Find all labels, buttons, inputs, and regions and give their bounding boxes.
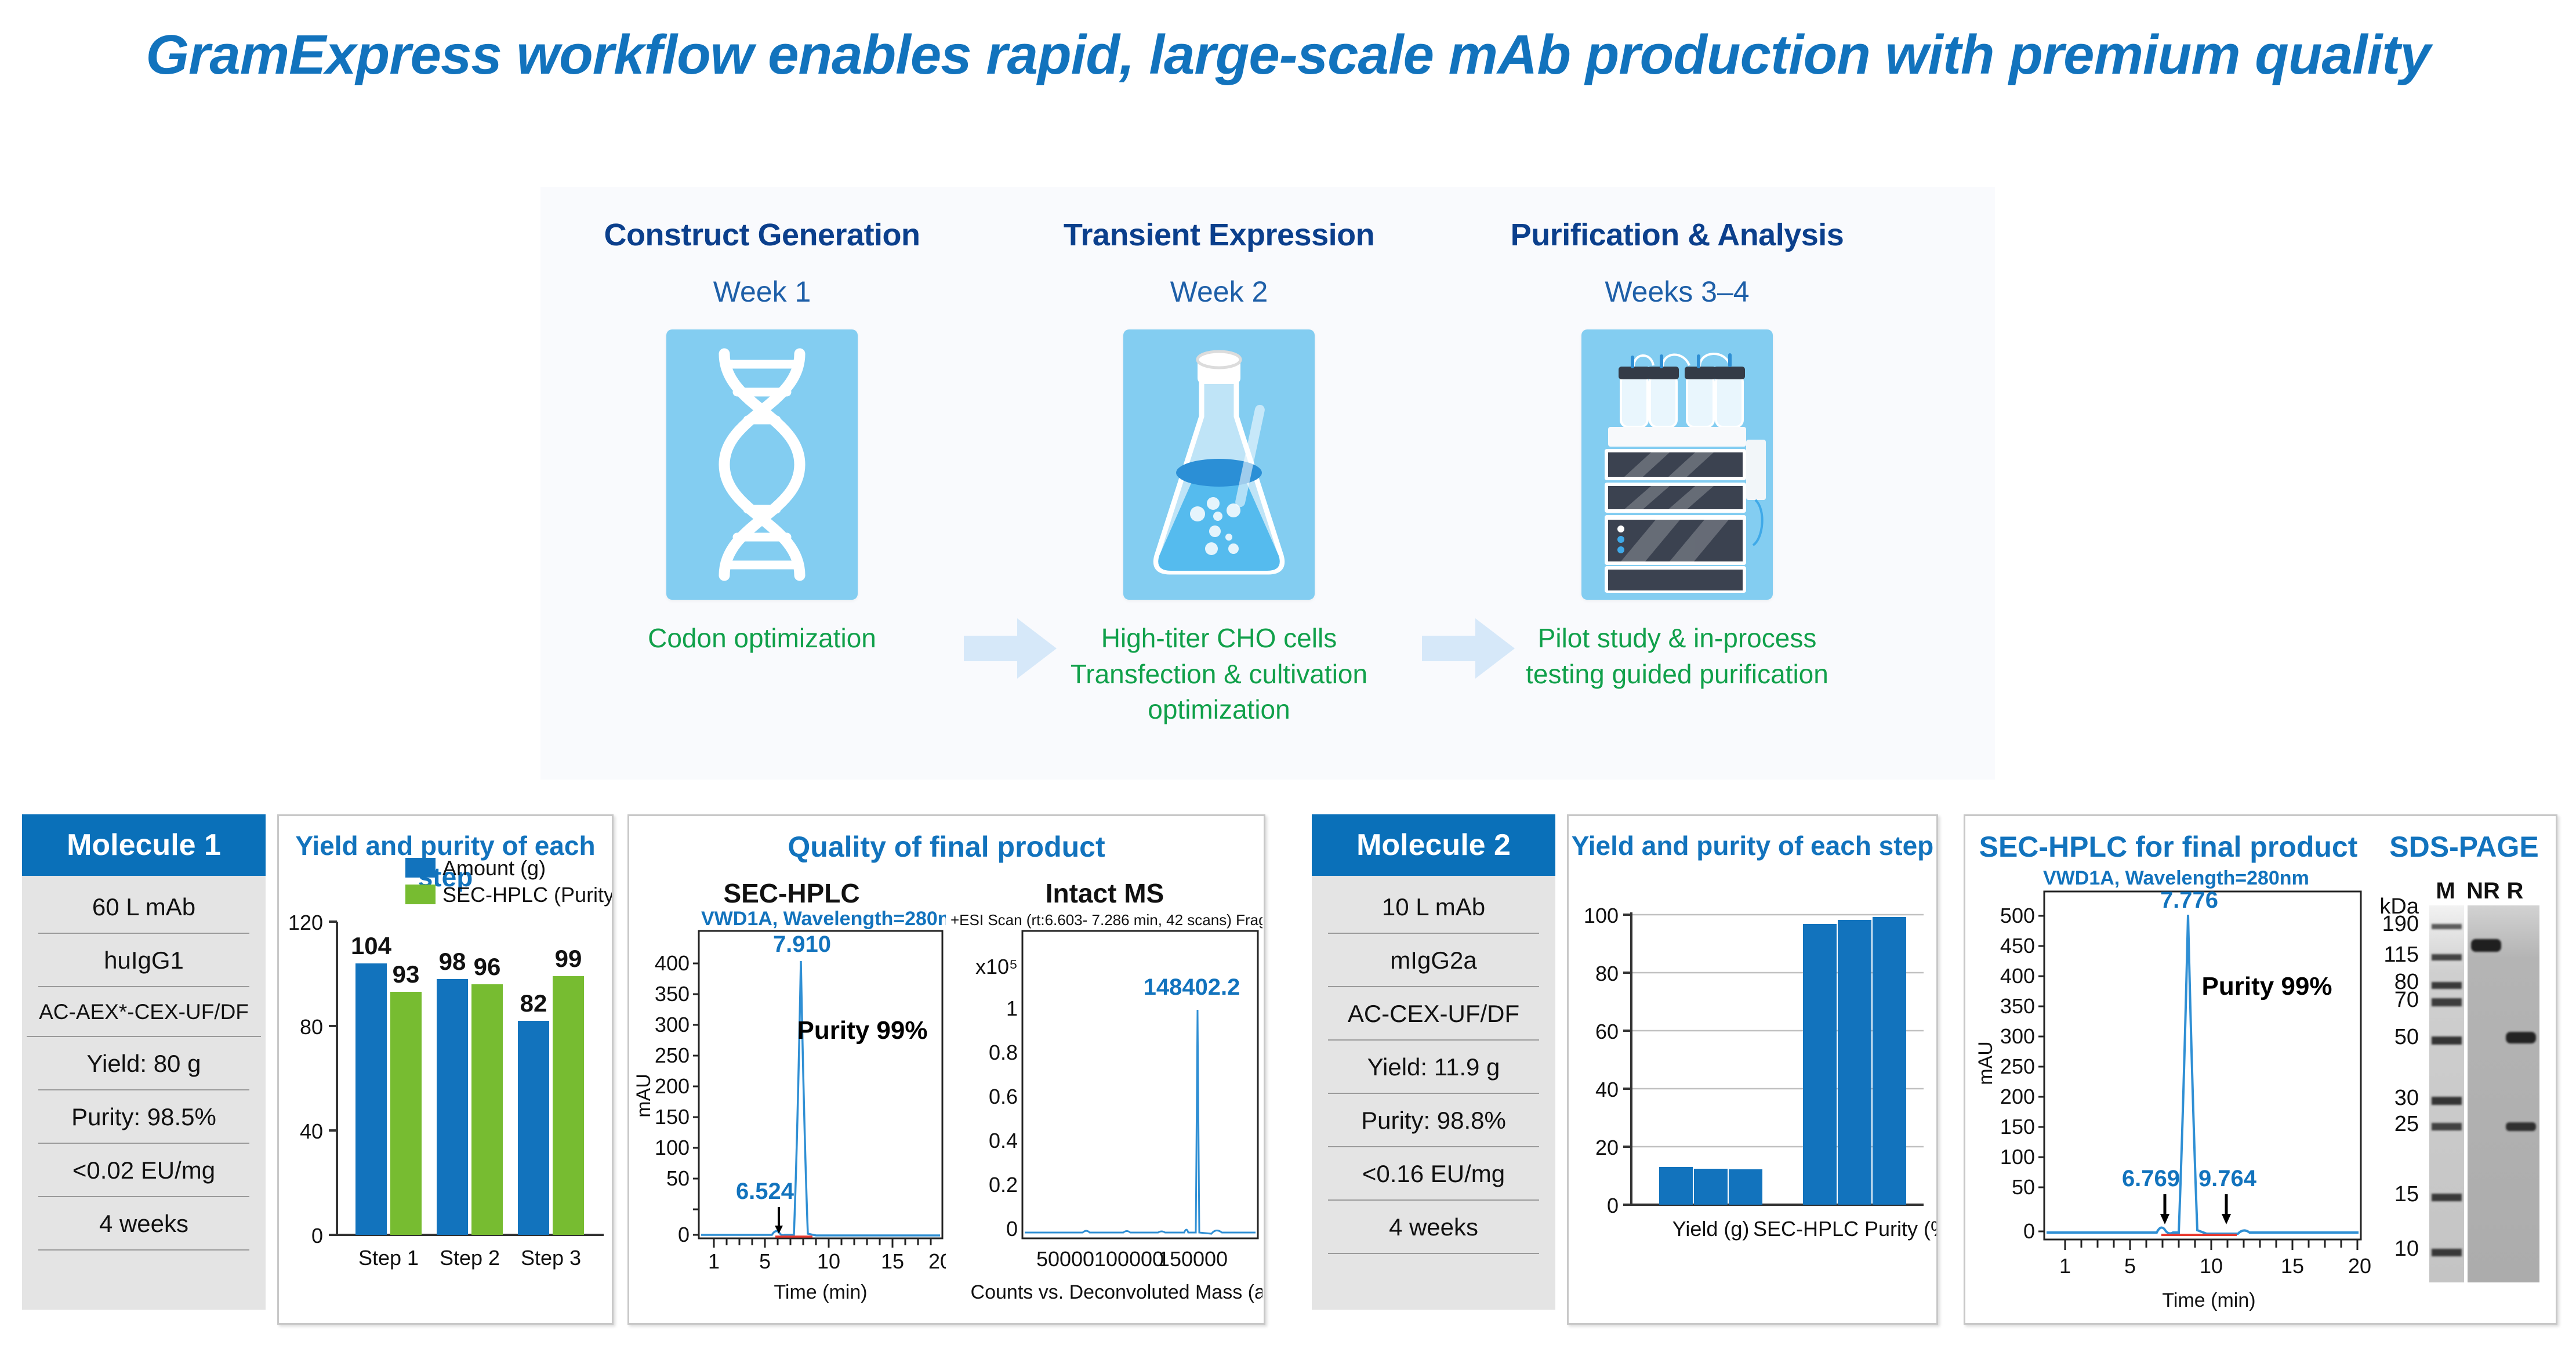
x-tick: 5 <box>2124 1254 2136 1278</box>
y-tick: 350 <box>655 982 690 1006</box>
gel-ladder-mark: 25 <box>2394 1112 2419 1136</box>
purity-annotation: Purity 99% <box>797 1016 928 1045</box>
bar-step3-amount <box>518 1021 549 1235</box>
gel-lane-label-NR: NR <box>2466 878 2500 904</box>
list-item: AC-AEX*-CEX-UF/DF <box>27 987 261 1037</box>
sdspage-title: SDS-PAGE <box>2371 830 2557 864</box>
x-tick: 1 <box>708 1249 720 1273</box>
gel-lane-label-M: M <box>2436 878 2455 904</box>
workflow-step-purification-analysis: Purification & Analysis Weeks 3–4 <box>1486 187 1868 692</box>
x-tick: 100000 <box>1094 1247 1164 1271</box>
bar-step1-amount <box>355 963 387 1235</box>
x-tick: 50000 <box>1036 1247 1094 1271</box>
gel-ladder-mark: 50 <box>2394 1025 2419 1049</box>
y-tick-120: 120 <box>288 911 323 934</box>
bar-label: 96 <box>474 953 501 980</box>
x-tick-step3: Step 3 <box>521 1246 581 1270</box>
y-tick: 20 <box>1595 1136 1619 1159</box>
molecule1-quality-panel: Quality of final product SEC-HPLC VWD1A,… <box>627 814 1265 1325</box>
y-tick: 0 <box>678 1223 690 1246</box>
purity-annotation: Purity 99% <box>2202 972 2332 1001</box>
y-tick: 500 <box>2000 904 2035 927</box>
list-item: Yield: 11.9 g <box>1328 1041 1539 1094</box>
detector-header: VWD1A, Wavelength=280nm <box>2043 867 2309 889</box>
bar-step3-purity <box>553 976 584 1235</box>
workflow-step-construct-generation: Construct Generation Week 1 Codon optimi… <box>571 187 953 657</box>
x-tick: 15 <box>2281 1254 2304 1278</box>
y-tick: 150 <box>2000 1115 2035 1139</box>
detector-header: VWD1A, Wavelength=280nm <box>701 910 946 930</box>
y-tick: 50 <box>2012 1175 2035 1199</box>
gel-ladder-mark: 15 <box>2394 1182 2419 1206</box>
page-title: GramExpress workflow enables rapid, larg… <box>0 23 2576 87</box>
y-tick: 100 <box>655 1136 690 1159</box>
legend-label-amount: Amount (g) <box>442 856 546 880</box>
peak-label-6524: 6.524 <box>736 1179 794 1204</box>
x-tick-step1: Step 1 <box>358 1246 419 1270</box>
y-tick: 0 <box>1006 1217 1018 1241</box>
gel-band-NR-150 <box>2471 939 2501 952</box>
y-tick: 250 <box>655 1043 690 1067</box>
list-item: huIgG1 <box>38 934 249 987</box>
x-tick: 150000 <box>1158 1247 1228 1271</box>
y-tick: 80 <box>1595 962 1619 985</box>
molecule1-spec-list: 60 L mAb huIgG1 AC-AEX*-CEX-UF/DF Yield:… <box>22 876 266 1310</box>
esi-scan-header: +ESI Scan (rt:6.603- 7.286 min, 42 scans… <box>950 911 1262 929</box>
list-item: <0.16 EU/mg <box>1328 1147 1539 1201</box>
bar-purity-1 <box>1803 924 1837 1205</box>
list-item: 4 weeks <box>38 1197 249 1251</box>
intact-ms-subtitle: Intact MS <box>954 878 1256 909</box>
bar-step2-purity <box>471 984 503 1235</box>
sec-hplc-subtitle: SEC-HPLC <box>641 878 942 909</box>
workflow-step-caption: High-titer CHO cells Transfection & cult… <box>1028 621 1410 728</box>
list-item: AC-CEX-UF/DF <box>1328 987 1539 1041</box>
molecule2-yield-purity-panel: Yield and purity of each step 100 80 60 … <box>1567 814 1938 1325</box>
y-tick: 350 <box>2000 994 2035 1018</box>
y-axis-label: mAU <box>1975 1041 1997 1085</box>
bar-yield-2 <box>1694 1169 1728 1205</box>
y-tick: 0.8 <box>989 1041 1018 1064</box>
workflow-step-caption: Codon optimization <box>571 621 953 657</box>
molecule1-header: Molecule 1 <box>22 814 266 876</box>
x-tick: 5 <box>759 1249 771 1273</box>
gel-ladder-mark: 115 <box>2383 943 2419 967</box>
x-axis-label: Counts vs. Deconvoluted Mass (amu) <box>971 1281 1262 1303</box>
list-item: Yield: 80 g <box>38 1037 249 1090</box>
workflow-step-week: Week 2 <box>1028 275 1410 309</box>
peak-label-6769: 6.769 <box>2122 1166 2180 1191</box>
mol1-sec-hplc-chart: VWD1A, Wavelength=280nm 400 350 300 250 … <box>633 910 946 1316</box>
bar-step2-amount <box>437 979 468 1235</box>
y-tick-0: 0 <box>311 1224 323 1248</box>
y-tick: 400 <box>655 951 690 975</box>
peak-label-7910: 7.910 <box>773 932 831 957</box>
panel-title: Quality of final product <box>629 830 1264 864</box>
workflow-step-caption: Pilot study & in-process testing guided … <box>1486 621 1868 692</box>
list-item: <0.02 EU/mg <box>38 1144 249 1197</box>
mol1-bar-chart: Amount (g) SEC-HPLC (Purity (%) 120 80 4… <box>279 852 612 1322</box>
workflow-step-week: Week 1 <box>571 275 953 309</box>
y-tick: 60 <box>1595 1020 1619 1043</box>
x-axis-label: Time (min) <box>2162 1289 2255 1311</box>
y-tick: 300 <box>2000 1024 2035 1048</box>
y-tick: 0 <box>2023 1219 2035 1243</box>
legend-label-purity: SEC-HPLC (Purity (%) <box>442 883 612 907</box>
y-tick: 100 <box>2000 1145 2035 1169</box>
bar-purity-2 <box>1838 920 1871 1205</box>
workflow-card: Construct Generation Week 1 Codon optimi… <box>540 187 1995 780</box>
gel-band-R-50 <box>2506 1032 2536 1043</box>
x-tick: 20 <box>2348 1254 2371 1278</box>
bar-label: 93 <box>393 961 420 988</box>
y-tick: 300 <box>655 1013 690 1036</box>
x-tick: 10 <box>817 1249 840 1273</box>
bar-label: 98 <box>439 948 466 975</box>
mol2-bar-chart: 100 80 60 40 20 0 Yield (g) SEC-HPLC Pur… <box>1569 857 1936 1321</box>
workflow-step-title: Transient Expression <box>1028 217 1410 253</box>
y-tick: 0.6 <box>989 1085 1018 1108</box>
x-tick: 1 <box>2059 1254 2071 1278</box>
y-tick: 40 <box>1595 1078 1619 1101</box>
gel-band-R-25 <box>2506 1122 2536 1131</box>
peak-label-9764: 9.764 <box>2198 1166 2257 1191</box>
y-tick: 200 <box>655 1074 690 1098</box>
bar-yield-3 <box>1729 1169 1762 1205</box>
y-axis-label: mAU <box>633 1074 655 1118</box>
workflow-step-week: Weeks 3–4 <box>1486 275 1868 309</box>
list-item: 60 L mAb <box>38 876 249 934</box>
bar-yield-1 <box>1659 1167 1693 1205</box>
x-tick: 15 <box>881 1249 904 1273</box>
y-tick: 50 <box>666 1166 690 1190</box>
x-tick-purity: SEC-HPLC Purity (%) <box>1753 1217 1936 1241</box>
y-tick: 450 <box>2000 934 2035 958</box>
list-item: Purity: 98.8% <box>1328 1094 1539 1147</box>
peak-label-7776: 7.776 <box>2160 887 2218 913</box>
y-tick: 400 <box>2000 964 2035 988</box>
y-tick: 1 <box>1006 996 1018 1020</box>
molecule2-header: Molecule 2 <box>1312 814 1555 876</box>
erlenmeyer-flask-icon <box>1123 329 1315 600</box>
mol2-sec-hplc-chart: VWD1A, Wavelength=280nm 500 450 400 350 … <box>1965 866 2371 1324</box>
y-tick: 100 <box>1584 904 1619 927</box>
bar-label: 104 <box>351 932 392 959</box>
legend-swatch-purity <box>405 885 436 904</box>
workflow-step-transient-expression: Transient Expression Week 2 High-titer C… <box>1028 187 1410 728</box>
x-tick-step2: Step 2 <box>440 1246 500 1270</box>
molecule2-spec-list: 10 L mAb mIgG2a AC-CEX-UF/DF Yield: 11.9… <box>1312 876 1555 1310</box>
gel-ladder-mark: 30 <box>2394 1086 2419 1110</box>
x-tick: 20 <box>928 1249 946 1273</box>
y-tick: 0 <box>1607 1194 1619 1217</box>
x-tick-yield: Yield (g) <box>1672 1217 1750 1241</box>
bar-label: 99 <box>555 945 582 972</box>
y-tick: 200 <box>2000 1085 2035 1108</box>
y-tick: 0.4 <box>989 1129 1018 1152</box>
y-tick-80: 80 <box>300 1015 323 1039</box>
y-tick-40: 40 <box>300 1119 323 1143</box>
y-tick: 0.2 <box>989 1173 1018 1197</box>
peak-label-mass: 148402.2 <box>1144 974 1240 1000</box>
list-item: 4 weeks <box>1328 1201 1539 1254</box>
y-tick: 250 <box>2000 1054 2035 1078</box>
gel-ladder-mark: 10 <box>2394 1237 2419 1261</box>
list-item: Purity: 98.5% <box>38 1090 249 1144</box>
sds-page-gel: M NR R kDa 190 115 80 70 50 30 25 15 10 <box>2371 866 2557 1330</box>
x-axis-label: Time (min) <box>774 1281 867 1303</box>
workflow-step-title: Construct Generation <box>571 217 953 253</box>
molecule2-sec-sdspage-panel: SEC-HPLC for final product SDS-PAGE VWD1… <box>1964 814 2557 1325</box>
gel-lane-label-R: R <box>2507 878 2524 904</box>
workflow-step-title: Purification & Analysis <box>1486 217 1868 253</box>
gel-ladder-mark: 190 <box>2382 912 2419 936</box>
y-tick: 150 <box>655 1105 690 1129</box>
bar-purity-3 <box>1873 917 1906 1205</box>
list-item: 10 L mAb <box>1328 876 1539 934</box>
hplc-instrument-icon <box>1581 329 1773 600</box>
mol1-intact-ms-chart: +ESI Scan (rt:6.603- 7.286 min, 42 scans… <box>949 910 1262 1316</box>
panel-title: SEC-HPLC for final product <box>1965 830 2371 864</box>
list-item: mIgG2a <box>1328 934 1539 987</box>
dna-helix-icon <box>666 329 858 600</box>
gel-ladder-mark: 70 <box>2394 988 2419 1012</box>
molecule1-yield-purity-panel: Yield and purity of each step Amount (g)… <box>277 814 614 1325</box>
y-axis-exponent: x10⁵ <box>975 955 1018 978</box>
x-tick: 10 <box>2200 1254 2223 1278</box>
legend-swatch-amount <box>405 858 436 878</box>
bar-label: 82 <box>520 990 547 1017</box>
bar-step1-purity <box>390 992 422 1235</box>
